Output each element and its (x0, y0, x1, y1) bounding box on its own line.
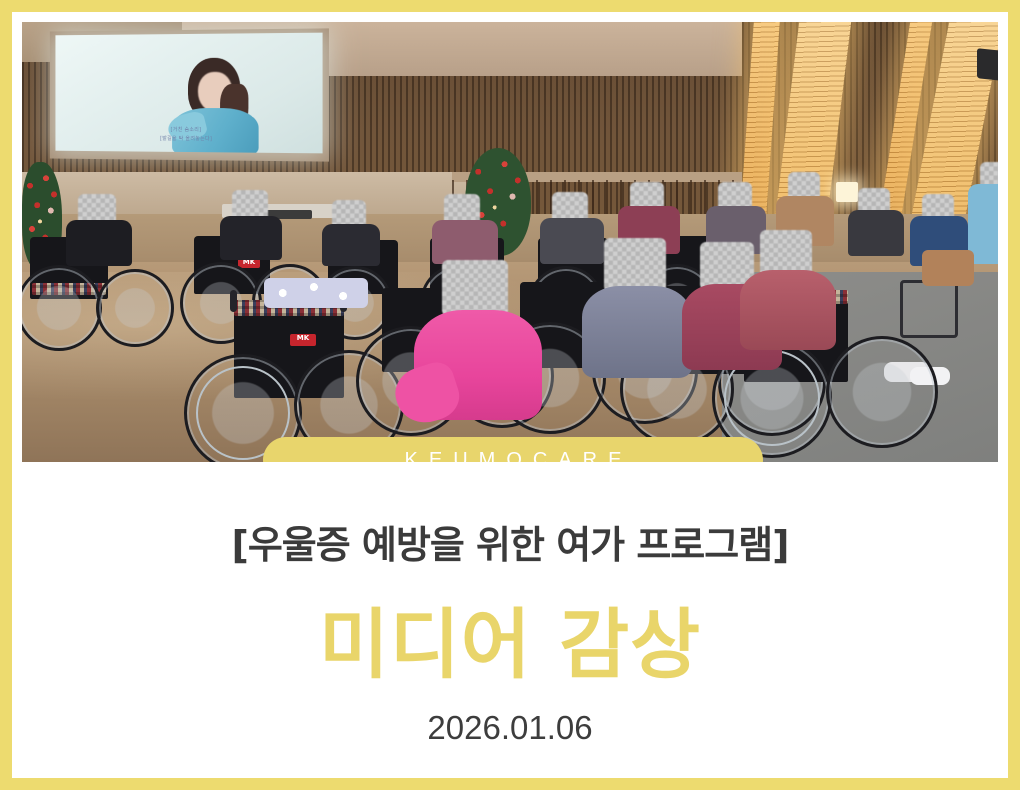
event-date: 2026.01.06 (22, 709, 998, 747)
wall-light-icon (836, 182, 858, 202)
movie-subtitle-line-2: [발길을 탁 올려놓는다] (55, 134, 322, 143)
wooden-chair (922, 250, 974, 286)
brand-pill: KEUMOCARE (263, 437, 763, 462)
lap-blanket (264, 278, 368, 308)
page-title: 미디어 감상 (22, 583, 998, 693)
lap-blanket-plaid (218, 304, 262, 344)
poster-card: [거친 숨소리] [발길을 탁 올려놓는다] (0, 0, 1020, 790)
ceiling-speaker-icon (977, 48, 998, 82)
folding-chair (900, 280, 958, 338)
program-subtitle: [우울증 예방을 위한 여가 프로그램] (22, 514, 998, 569)
poster-inner: [거친 숨소리] [발길을 탁 올려놓는다] (12, 12, 1008, 778)
brand-pill-label: KEUMOCARE (394, 449, 633, 463)
projection-screen: [거친 숨소리] [발길을 탁 올려놓는다] (55, 33, 322, 154)
wheelchair-brand-badge: MK (290, 334, 316, 346)
caption-block: [우울증 예방을 위한 여가 프로그램] 미디어 감상 2026.01.06 (22, 514, 998, 747)
movie-subtitle-line-1: [거친 숨소리] (55, 125, 322, 134)
event-photo: [거친 숨소리] [발길을 탁 올려놓는다] (22, 22, 998, 462)
